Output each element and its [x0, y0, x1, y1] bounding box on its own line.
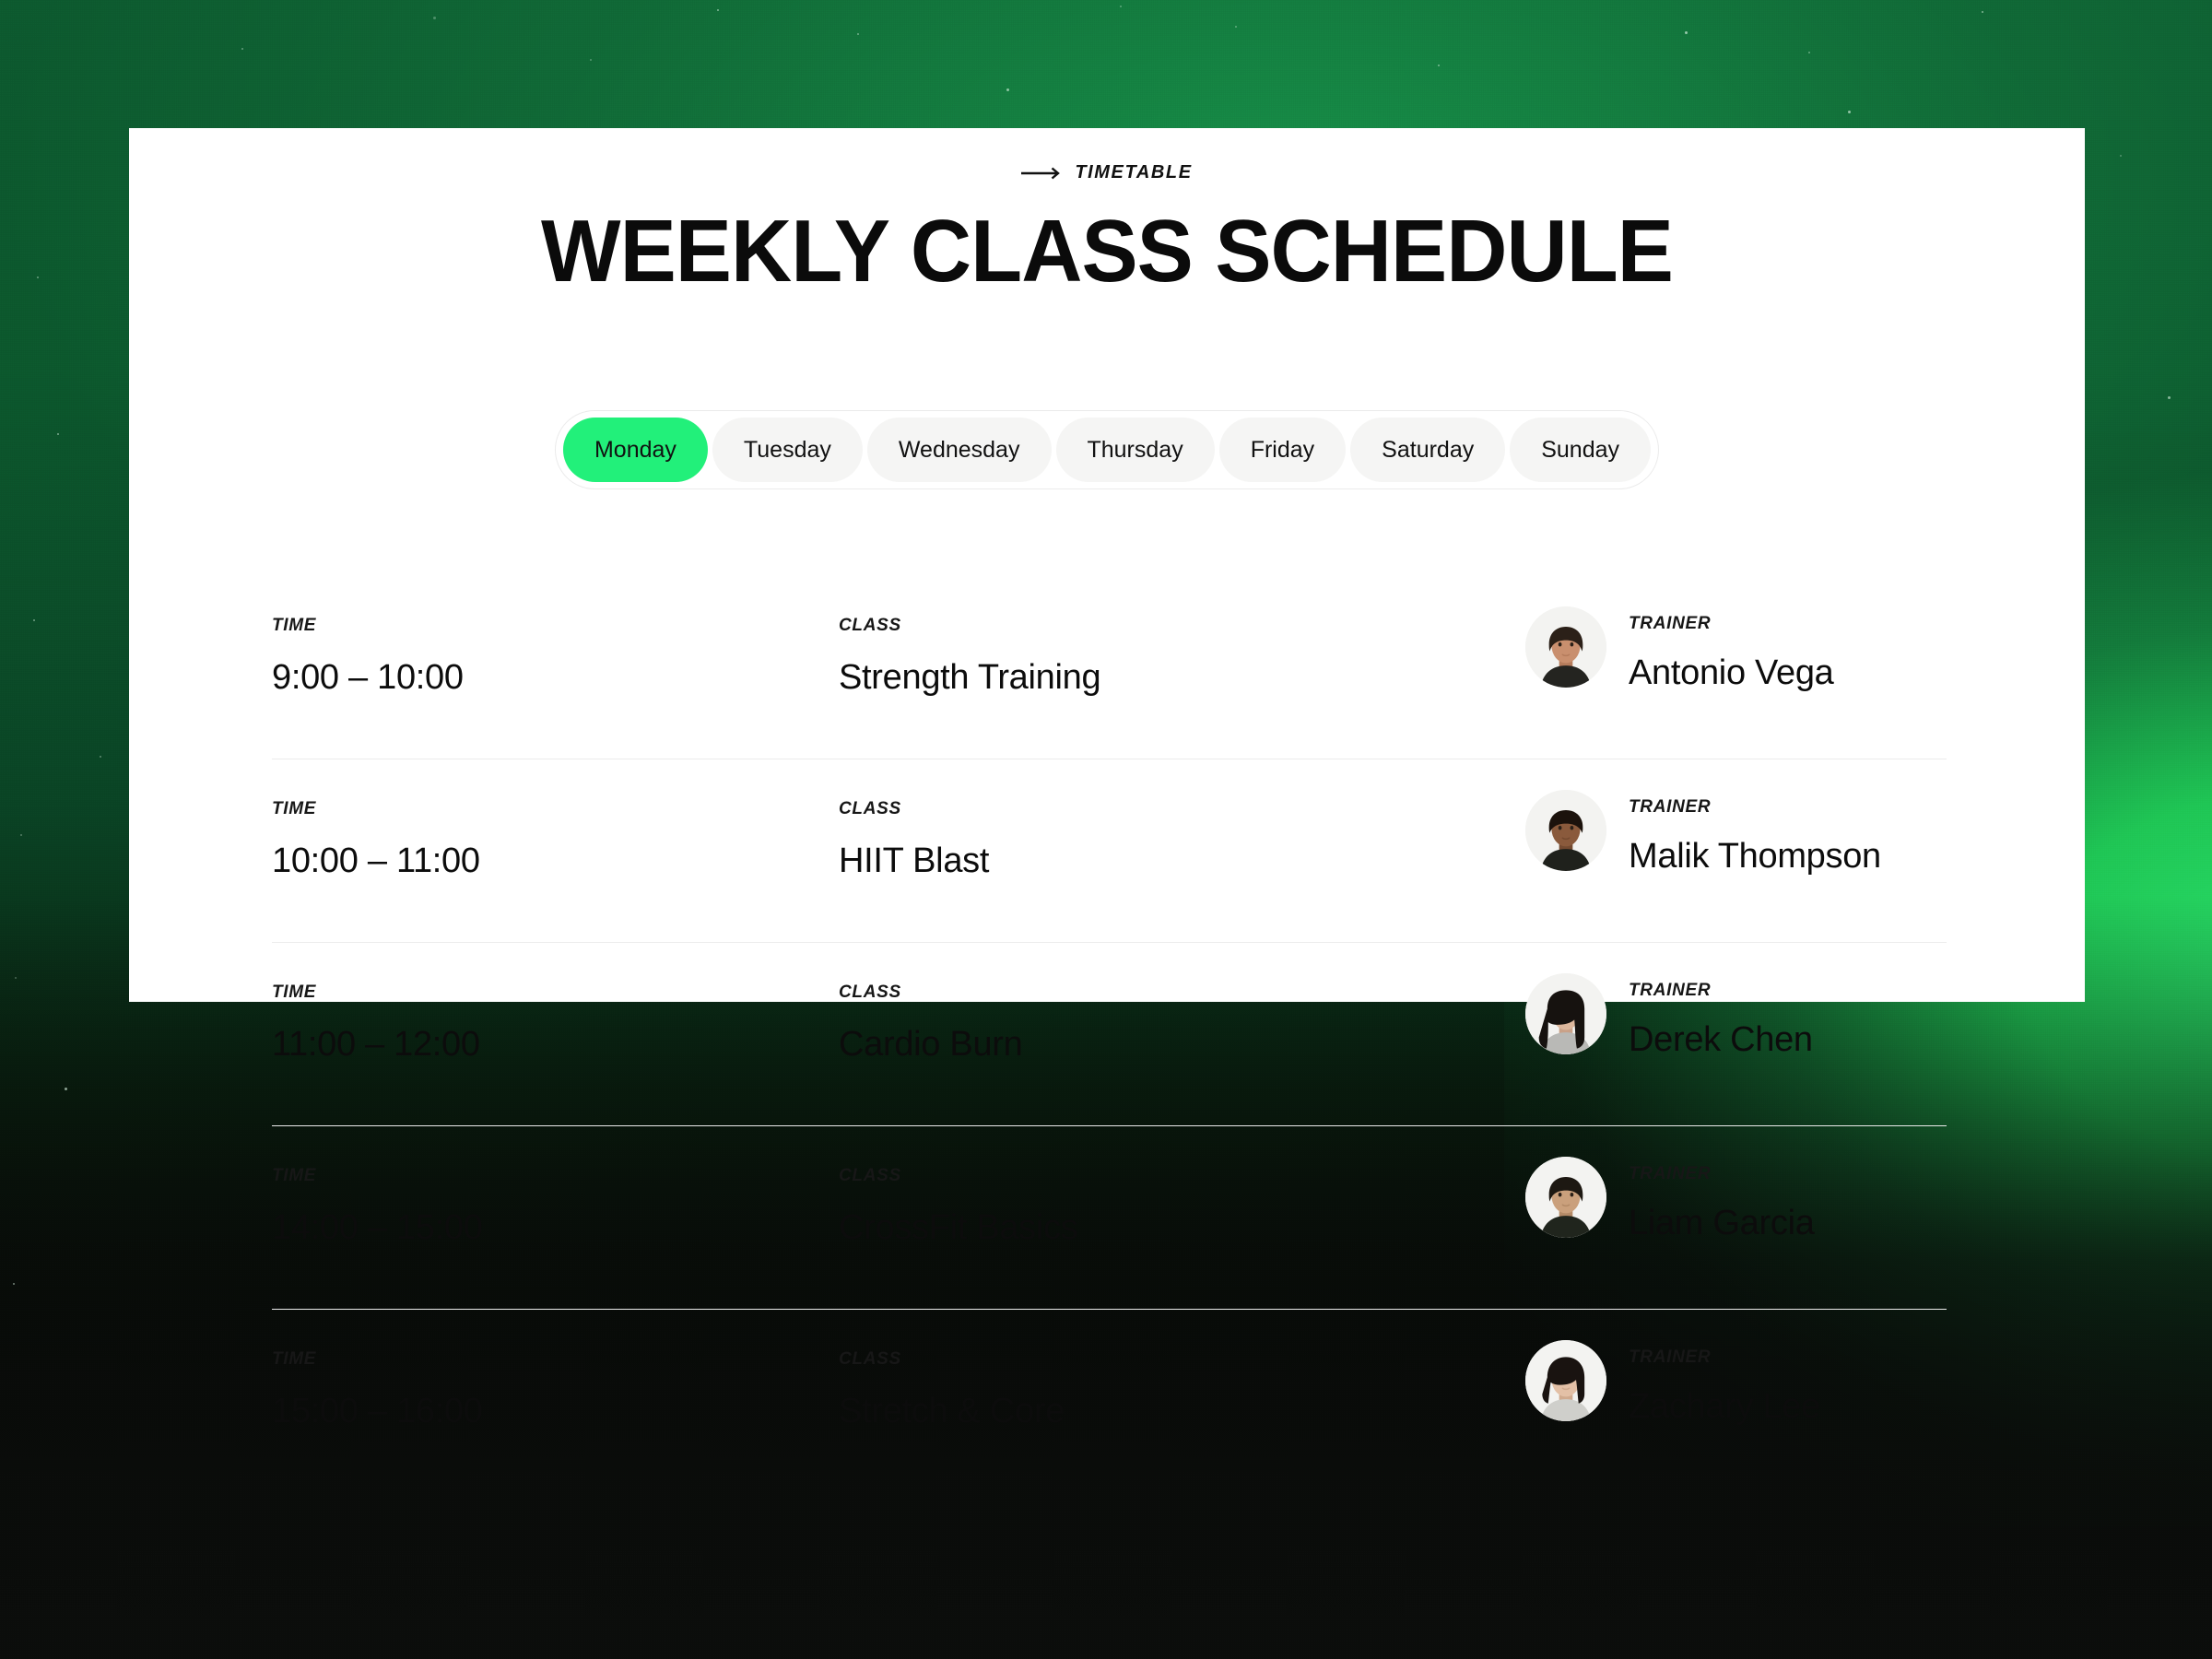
schedule-row[interactable]: TIME 9:00 – 10:00 CLASS Strength Trainin…	[272, 576, 1947, 759]
class-cell: CLASS Cardio Burn	[839, 943, 1525, 1065]
class-cell: CLASS CrossFit Basics	[839, 1126, 1525, 1248]
day-tab-bar[interactable]: MondayTuesdayWednesdayThursdayFridaySatu…	[555, 410, 1659, 489]
day-tab-label: Saturday	[1382, 437, 1474, 464]
class-value: Strength Training	[839, 658, 1525, 698]
day-tab-label: Wednesday	[899, 437, 1020, 464]
time-cell: TIME 9:00 – 10:00	[272, 576, 839, 698]
schedule-row[interactable]: TIME 10:00 – 11:00 CLASS HIIT Blast TRAI…	[272, 759, 1947, 943]
time-cell: TIME 10:00 – 11:00	[272, 759, 839, 881]
trainer-text: TRAINER Malik Thompson	[1629, 790, 1881, 877]
time-cell: TIME 14:00 – 15:00	[272, 1126, 839, 1248]
class-cell: CLASS Strength Training	[839, 576, 1525, 698]
trainer-label: TRAINER	[1629, 797, 1881, 818]
class-label: CLASS	[839, 982, 1525, 1003]
trainer-value: Derek Chen	[1629, 1020, 1813, 1060]
schedule-list: TIME 9:00 – 10:00 CLASS Strength Trainin…	[272, 576, 1947, 1493]
day-tab-label: Tuesday	[744, 437, 831, 464]
trainer-label: TRAINER	[1629, 614, 1834, 634]
trainer-value: Liam Garcia	[1629, 1204, 1815, 1243]
time-value: 15:00 – 16:00	[272, 1392, 839, 1431]
day-tab-wednesday[interactable]: Wednesday	[867, 418, 1052, 482]
day-tab-saturday[interactable]: Saturday	[1350, 418, 1505, 482]
trainer-label: TRAINER	[1629, 981, 1813, 1001]
class-value: Cardio Burn	[839, 1025, 1525, 1065]
class-label: CLASS	[839, 1349, 1525, 1370]
day-tab-friday[interactable]: Friday	[1219, 418, 1346, 482]
time-value: 10:00 – 11:00	[272, 841, 839, 881]
day-tab-sunday[interactable]: Sunday	[1510, 418, 1651, 482]
class-value: CrossFit Basics	[839, 1208, 1525, 1248]
eyebrow: TIMETABLE	[129, 162, 2085, 183]
class-cell: CLASS Stretch & Core	[839, 1310, 1525, 1431]
class-label: CLASS	[839, 616, 1525, 636]
trainer-cell: TRAINER Liam Garcia	[1525, 1126, 1947, 1243]
day-tab-label: Friday	[1251, 437, 1314, 464]
time-value: 9:00 – 10:00	[272, 658, 839, 698]
time-cell: TIME 15:00 – 16:00	[272, 1310, 839, 1431]
trainer-cell: TRAINER Derek Chen	[1525, 943, 1947, 1060]
time-label: TIME	[272, 1349, 839, 1370]
trainer-cell: TRAINER Malik Thompson	[1525, 759, 1947, 877]
trainer-value: Malik Thompson	[1629, 837, 1881, 877]
trainer-text: TRAINER Zachary Lee	[1629, 1340, 1820, 1427]
avatar-zachary-lee	[1525, 1340, 1606, 1421]
schedule-row[interactable]: TIME 15:00 – 16:00 CLASS Stretch & Core …	[272, 1310, 1947, 1493]
trainer-value: Zachary Lee	[1629, 1387, 1820, 1427]
day-tab-tuesday[interactable]: Tuesday	[712, 418, 863, 482]
avatar-liam-garcia	[1525, 1157, 1606, 1238]
avatar-malik-thompson	[1525, 790, 1606, 871]
class-value: HIIT Blast	[839, 841, 1525, 881]
time-value: 11:00 – 12:00	[272, 1025, 839, 1065]
eyebrow-label: TIMETABLE	[1075, 162, 1192, 183]
time-cell: TIME 11:00 – 12:00	[272, 943, 839, 1065]
avatar-derek-chen	[1525, 973, 1606, 1054]
avatar-antonio-vega	[1525, 606, 1606, 688]
time-label: TIME	[272, 1166, 839, 1186]
trainer-label: TRAINER	[1629, 1347, 1820, 1368]
trainer-cell: TRAINER Zachary Lee	[1525, 1310, 1947, 1427]
day-tab-label: Monday	[594, 437, 677, 464]
trainer-text: TRAINER Antonio Vega	[1629, 606, 1834, 693]
time-label: TIME	[272, 982, 839, 1003]
schedule-row[interactable]: TIME 11:00 – 12:00 CLASS Cardio Burn TRA…	[272, 943, 1947, 1126]
class-cell: CLASS HIIT Blast	[839, 759, 1525, 881]
page-title: WEEKLY CLASS SCHEDULE	[173, 202, 2041, 301]
time-label: TIME	[272, 616, 839, 636]
class-label: CLASS	[839, 1166, 1525, 1186]
day-tab-thursday[interactable]: Thursday	[1055, 418, 1214, 482]
day-tab-label: Thursday	[1087, 437, 1182, 464]
time-value: 14:00 – 15:00	[272, 1208, 839, 1248]
time-label: TIME	[272, 799, 839, 819]
arrow-right-icon	[1021, 167, 1062, 180]
day-tab-label: Sunday	[1541, 437, 1619, 464]
day-tab-monday[interactable]: Monday	[563, 418, 708, 482]
schedule-row[interactable]: TIME 14:00 – 15:00 CLASS CrossFit Basics…	[272, 1126, 1947, 1310]
schedule-card: TIMETABLE WEEKLY CLASS SCHEDULE MondayTu…	[129, 128, 2085, 1002]
trainer-text: TRAINER Derek Chen	[1629, 973, 1813, 1060]
trainer-cell: TRAINER Antonio Vega	[1525, 576, 1947, 693]
trainer-value: Antonio Vega	[1629, 653, 1834, 693]
trainer-text: TRAINER Liam Garcia	[1629, 1157, 1815, 1243]
class-value: Stretch & Core	[839, 1392, 1525, 1431]
class-label: CLASS	[839, 799, 1525, 819]
trainer-label: TRAINER	[1629, 1164, 1815, 1184]
